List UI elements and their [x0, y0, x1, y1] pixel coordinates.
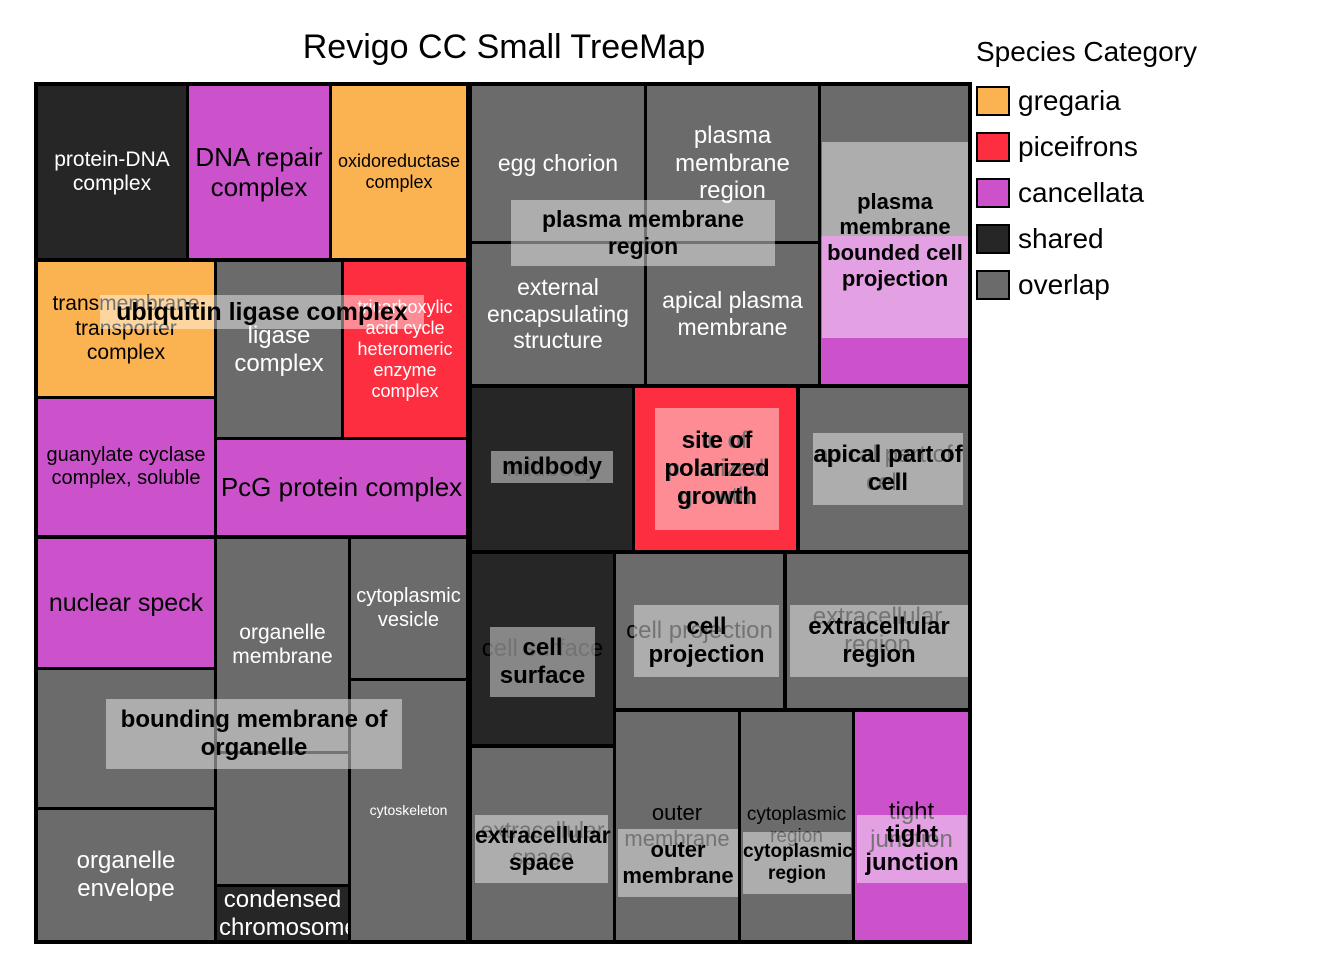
treemap-tile[interactable]: organelle envelope	[38, 810, 214, 940]
treemap-tile[interactable]: apical plasma membrane	[647, 244, 818, 384]
page-title: Revigo CC Small TreeMap	[34, 30, 974, 64]
treemap-tile[interactable]: cell surface	[472, 554, 613, 744]
legend-swatch-gregaria	[976, 86, 1010, 116]
treemap-tile[interactable]: cytoplasmic region	[741, 712, 852, 940]
tile-label: tight junction	[855, 798, 968, 854]
treemap-tile[interactable]	[38, 670, 214, 807]
legend-item-gregaria: gregaria	[976, 84, 1121, 118]
treemap-tile[interactable]	[217, 754, 348, 884]
treemap-tile[interactable]: cell projection	[616, 554, 783, 708]
legend-label-gregaria: gregaria	[1018, 87, 1121, 115]
legend-swatch-cancellata	[976, 178, 1010, 208]
legend-swatch-overlap	[976, 270, 1010, 300]
legend-title: Species Category	[976, 36, 1197, 68]
treemap-tile[interactable]: guanylate cyclase complex, soluble	[38, 399, 214, 535]
treemap-tile[interactable]: transmembrane transporter complex	[38, 262, 214, 396]
tile-label: ligase complex	[217, 322, 341, 378]
legend-swatch-shared	[976, 224, 1010, 254]
treemap-tile[interactable]: tight junction	[855, 712, 968, 940]
treemap-tile[interactable]: midbody	[472, 388, 632, 550]
legend-swatch-piceifrons	[976, 132, 1010, 162]
treemap-tile[interactable]: oxidoreductase complex	[332, 86, 466, 258]
treemap-tile[interactable]: extracellular region	[787, 554, 968, 708]
treemap-tile[interactable]: PcG protein complex	[217, 440, 466, 535]
tile-label: nuclear speck	[38, 589, 214, 618]
tile-label: plasma membrane region	[647, 122, 818, 205]
treemap-tile[interactable]: DNA repair complex	[189, 86, 329, 258]
tile-label: outer membrane	[616, 800, 738, 851]
legend-item-shared: shared	[976, 222, 1104, 256]
treemap-canvas: protein-DNA complexDNA repair complexoxi…	[34, 82, 972, 944]
tile-label: cytoplasmic vesicle	[351, 585, 466, 631]
tile-label: extracellular space	[472, 817, 613, 870]
tile-label: apical part of cell	[800, 441, 968, 497]
legend-label-piceifrons: piceifrons	[1018, 133, 1138, 161]
tile-label: site of polarized growth	[635, 427, 796, 510]
tile-label: protein-DNA complex	[38, 148, 186, 197]
tile-label: cytoskeleton	[351, 802, 466, 818]
tile-label: transmembrane transporter complex	[38, 292, 214, 365]
treemap-tile[interactable]: outer membrane	[616, 712, 738, 940]
tile-label: oxidoreductase complex	[332, 151, 466, 193]
legend-label-shared: shared	[1018, 225, 1104, 253]
treemap-tile[interactable]: apical part of cell	[800, 388, 968, 550]
treemap-tile[interactable]: organelle membrane	[217, 539, 348, 751]
treemap-tile[interactable]: site of polarized growth	[635, 388, 796, 550]
treemap-tile[interactable]: condensed chromosome	[217, 887, 348, 940]
tile-label: PcG protein complex	[217, 472, 466, 502]
tile-label: DNA repair complex	[189, 142, 329, 202]
treemap-tile[interactable]: external encapsulating structure	[472, 244, 644, 384]
tile-label: apical plasma membrane	[647, 287, 818, 340]
legend-label-overlap: overlap	[1018, 271, 1110, 299]
treemap-tile[interactable]: cytoskeleton	[351, 681, 466, 940]
tile-label: cell surface	[472, 635, 613, 663]
treemap-tile[interactable]: tricarboxylic acid cycle heteromeric enz…	[344, 262, 466, 437]
tile-label: organelle membrane	[217, 621, 348, 670]
tile-label: guanylate cyclase complex, soluble	[38, 444, 214, 490]
tile-label: cell projection	[616, 617, 783, 645]
treemap-tile[interactable]: nuclear speck	[38, 539, 214, 667]
treemap-tile[interactable]: plasma membrane region	[647, 86, 818, 241]
treemap-tile[interactable]	[821, 86, 968, 236]
tile-label: condensed chromosome	[217, 887, 348, 940]
treemap-tile[interactable]: protein-DNA complex	[38, 86, 186, 258]
legend-label-cancellata: cancellata	[1018, 179, 1144, 207]
treemap-tile[interactable]: ligase complex	[217, 262, 341, 437]
tile-label: tricarboxylic acid cycle heteromeric enz…	[344, 297, 466, 401]
treemap-tile[interactable]: cytoplasmic vesicle	[351, 539, 466, 678]
tile-label: egg chorion	[472, 150, 644, 177]
tile-label: cytoplasmic region	[741, 804, 852, 848]
treemap-tile[interactable]: extracellular space	[472, 748, 613, 940]
legend-item-overlap: overlap	[976, 268, 1110, 302]
tile-label: midbody	[472, 455, 632, 483]
treemap-figure: Revigo CC Small TreeMap Species Category…	[0, 0, 1344, 960]
tile-label: extracellular region	[787, 603, 968, 659]
treemap-tile[interactable]	[821, 236, 968, 384]
legend-item-piceifrons: piceifrons	[976, 130, 1138, 164]
tile-label: organelle envelope	[38, 847, 214, 903]
treemap-tile[interactable]: egg chorion	[472, 86, 644, 241]
tile-label: external encapsulating structure	[472, 274, 644, 354]
legend-item-cancellata: cancellata	[976, 176, 1144, 210]
